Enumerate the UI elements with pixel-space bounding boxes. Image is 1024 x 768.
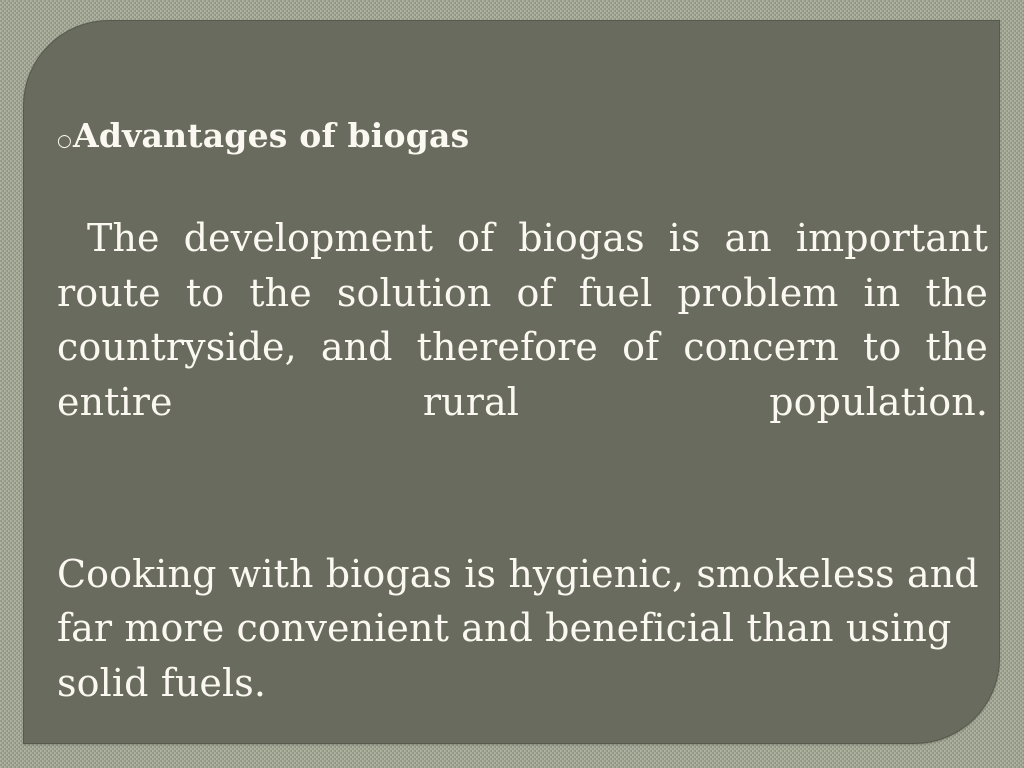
paragraph-spacer — [57, 485, 992, 547]
slide-content-panel: ○Advantages of biogas The development of… — [23, 20, 1000, 744]
slide-title-text: Advantages of biogas — [73, 116, 469, 155]
title-body-spacer — [57, 155, 992, 211]
slide-text-body: ○Advantages of biogas The development of… — [57, 118, 992, 711]
body-paragraph-2: Cooking with biogas is hygienic, smokele… — [57, 547, 992, 711]
bullet-circle-icon: ○ — [57, 131, 72, 151]
body-paragraph-1: The development of biogas is an importan… — [57, 211, 992, 485]
presentation-slide: ○Advantages of biogas The development of… — [0, 0, 1024, 768]
slide-title: ○Advantages of biogas — [57, 118, 992, 155]
